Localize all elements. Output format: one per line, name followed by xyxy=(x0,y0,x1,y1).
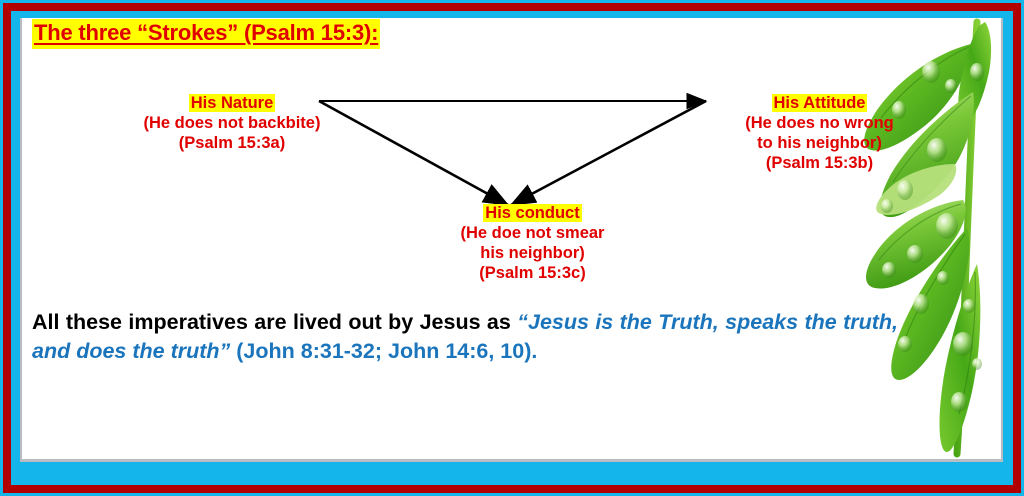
node-line: his neighbor) xyxy=(430,243,635,263)
node-line: to his neighbor) xyxy=(712,133,927,153)
body-paragraph: All these imperatives are lived out by J… xyxy=(32,308,898,366)
node-heading: His conduct xyxy=(430,203,635,223)
node-line: (Psalm 15:3c) xyxy=(430,263,635,283)
arrow-nature-to-conduct xyxy=(319,101,508,205)
paragraph-lead: All these imperatives are lived out by J… xyxy=(32,310,517,334)
page-title: The three “Strokes” (Psalm 15:3): xyxy=(32,19,380,49)
slide-canvas: The three “Strokes” (Psalm 15:3): His Na… xyxy=(22,18,1001,459)
diagram-node-his-nature: His Nature (He does not backbite) (Psalm… xyxy=(117,93,347,153)
node-line: (Psalm 15:3b) xyxy=(712,153,927,173)
node-line: (He does no wrong xyxy=(712,113,927,133)
node-line: (Psalm 15:3a) xyxy=(117,133,347,153)
node-line: (He does not backbite) xyxy=(117,113,347,133)
diagram-node-his-conduct: His conduct (He doe not smear his neighb… xyxy=(430,203,635,283)
node-line: (He doe not smear xyxy=(430,223,635,243)
arrow-attitude-to-conduct xyxy=(511,101,706,205)
green-leaves-with-water-droplets-icon xyxy=(859,18,1001,459)
slide: The three “Strokes” (Psalm 15:3): His Na… xyxy=(0,0,1024,496)
node-heading: His Attitude xyxy=(712,93,927,113)
paragraph-reference: (John 8:31-32; John 14:6, 10). xyxy=(230,339,537,363)
diagram-node-his-attitude: His Attitude (He does no wrong to his ne… xyxy=(712,93,927,173)
node-heading: His Nature xyxy=(117,93,347,113)
